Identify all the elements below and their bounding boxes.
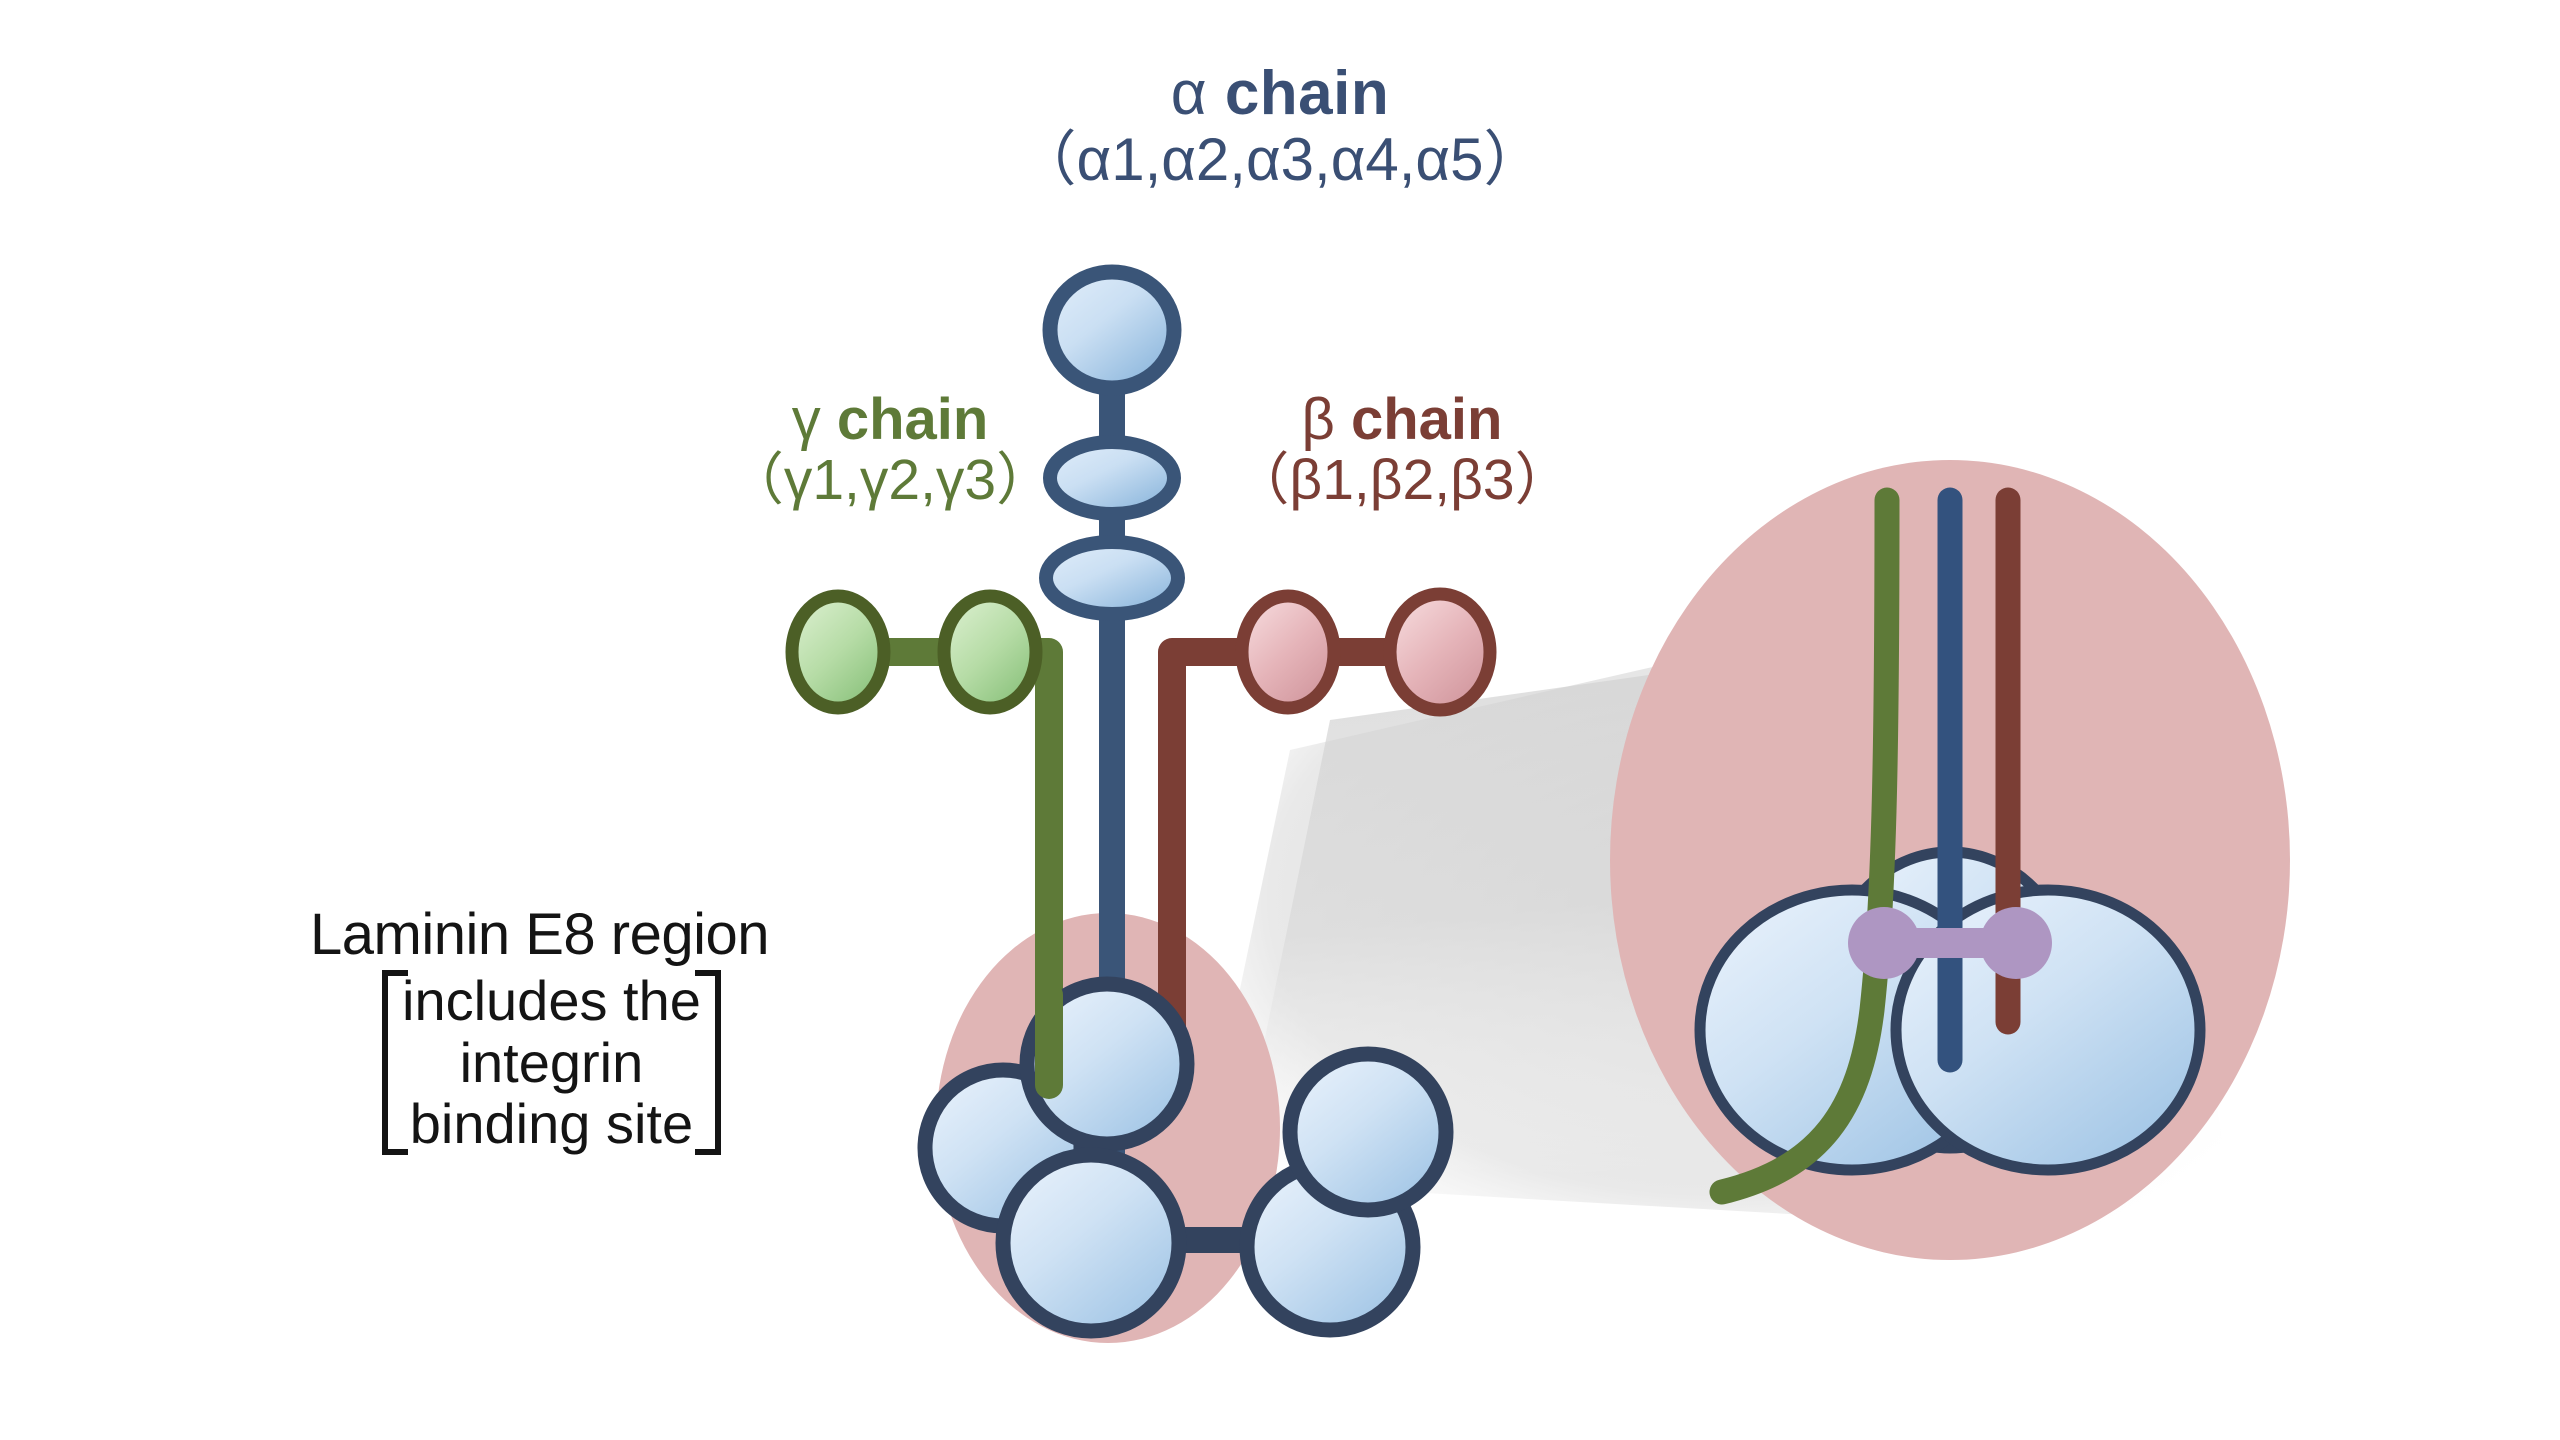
laminin-diagram-svg — [0, 0, 2560, 1440]
e8-region-title: Laminin E8 region — [310, 905, 769, 964]
beta-domain-2 — [1390, 594, 1490, 710]
gamma-domain-1 — [792, 596, 884, 708]
alpha-isoform-list: （α1,α2,α3,α4,α5） — [1017, 129, 1544, 190]
alpha-greek-glyph: α — [1171, 59, 1207, 128]
gamma-chain-label: γ chain （γ1,γ2,γ3） — [727, 390, 1053, 509]
alpha-domain-rod-1 — [1050, 442, 1174, 514]
bracket-right — [715, 970, 721, 1155]
e8-bracket-line-3: binding site — [402, 1093, 701, 1155]
beta-domain-1 — [1242, 596, 1334, 708]
alpha-chain-word: chain — [1225, 59, 1389, 128]
e8-bracket-line-1: includes the — [402, 970, 701, 1032]
lg-domain-5 — [1290, 1054, 1446, 1210]
e8-bracket-line-2: integrin — [402, 1032, 701, 1094]
gamma-chain-word: chain — [837, 387, 989, 452]
bracket-left — [382, 970, 388, 1155]
beta-greek-glyph: β — [1301, 387, 1334, 452]
alpha-domain-globule — [1050, 272, 1174, 388]
gamma-greek-glyph: γ — [792, 387, 821, 452]
e8-region-label: Laminin E8 region includes the integrin … — [310, 905, 769, 1155]
beta-isoform-list: （β1,β2,β3） — [1232, 451, 1571, 509]
alpha-arm-domains — [1046, 272, 1178, 614]
alpha-domain-rod-2 — [1046, 542, 1178, 614]
beta-chain-label: β chain （β1,β2,β3） — [1232, 390, 1571, 509]
e8-bracket-text: includes the integrin binding site — [402, 970, 701, 1155]
lg-domain-3 — [1003, 1155, 1179, 1331]
figure-canvas: α chain （α1,α2,α3,α4,α5） γ chain （γ1,γ2,… — [0, 0, 2560, 1440]
alpha-chain-label: α chain （α1,α2,α3,α4,α5） — [1017, 62, 1544, 190]
beta-chain-word: chain — [1351, 387, 1503, 452]
gamma-domain-2 — [944, 596, 1036, 708]
e8-bracket-group: includes the integrin binding site — [382, 970, 769, 1155]
gamma-isoform-list: （γ1,γ2,γ3） — [727, 451, 1053, 509]
